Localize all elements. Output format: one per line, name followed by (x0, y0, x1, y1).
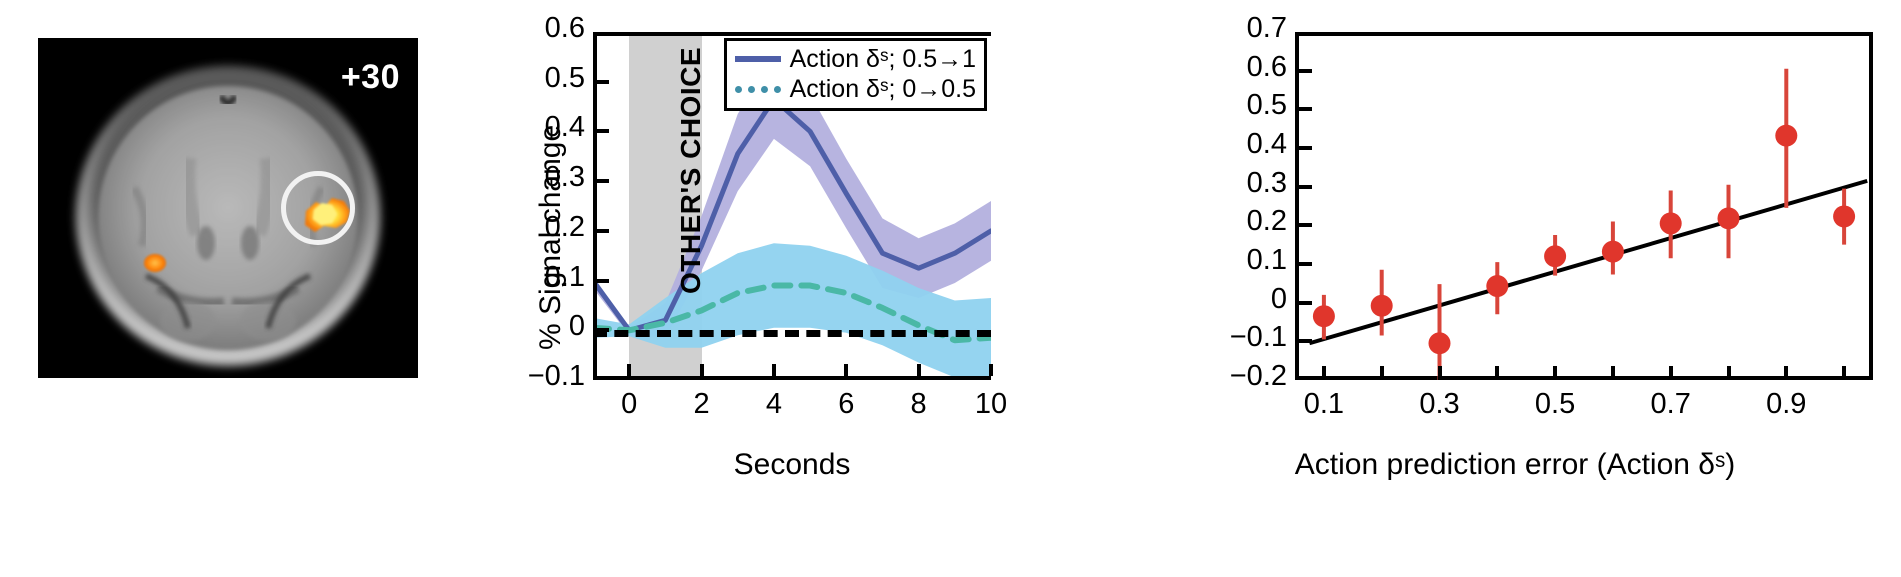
scatter-xtick-mark (1380, 366, 1384, 380)
scatter-ytick-label: 0.7 (1199, 12, 1287, 45)
scatter-data-point (1602, 241, 1624, 263)
scatter-fit-line (1309, 181, 1867, 343)
timecourse-ytick-label: 0.5 (501, 62, 585, 95)
scatter-x-axis-title: Action prediction error (Action δˢ) (1130, 448, 1900, 482)
others-choice-label: OTHER'S CHOICE (675, 47, 707, 294)
timecourse-xtick-mark (917, 364, 921, 376)
scatter-ytick-mark (1299, 107, 1312, 111)
slice-coordinate-label: +30 (341, 58, 400, 97)
scatter-data-point (1660, 212, 1682, 234)
scatter-xtick-mark (1553, 366, 1557, 380)
scatter-data-point (1775, 125, 1797, 147)
timecourse-xtick-mark (700, 364, 704, 376)
timecourse-ytick-mark (597, 229, 609, 233)
scatter-xtick-mark (1784, 366, 1788, 380)
scatter-ytick-mark (1299, 223, 1312, 227)
scatter-ytick-label: 0.3 (1199, 167, 1287, 200)
scatter-xtick-label: 0.7 (1626, 388, 1716, 421)
scatter-ytick-label: 0.1 (1199, 244, 1287, 277)
scatter-ytick-label: 0 (1199, 283, 1287, 316)
timecourse-xtick-label: 0 (589, 388, 669, 421)
legend-item-0: Action δˢ; 0.5→1 (735, 44, 976, 74)
scatter-data-point (1544, 245, 1566, 267)
scatter-data-point (1718, 207, 1740, 229)
zero-reference-line (593, 330, 991, 337)
timecourse-xtick-mark (772, 364, 776, 376)
scatter-data-point (1486, 275, 1508, 297)
scatter-plot-area (1295, 32, 1873, 380)
timecourse-xtick-mark (844, 364, 848, 376)
plot-top-border (593, 32, 991, 36)
scatter-ytick-mark (1299, 146, 1312, 150)
scatter-data-point (1429, 332, 1451, 354)
brain-slice-panel: +30 (38, 38, 418, 378)
legend-label-1: Action δˢ; 0→0.5 (790, 75, 976, 104)
scatter-ytick-label: −0.2 (1199, 360, 1287, 393)
roi-circle-icon (281, 171, 355, 245)
timecourse-ytick-mark (597, 80, 609, 84)
timecourse-xtick-mark (989, 364, 993, 376)
scatter-xtick-mark (1669, 366, 1673, 380)
scatter-xtick-label: 0.9 (1741, 388, 1831, 421)
scatter-ytick-mark (1299, 185, 1312, 189)
timecourse-xtick-label: 4 (734, 388, 814, 421)
scatter-data-point (1833, 205, 1855, 227)
timecourse-xtick-label: 2 (662, 388, 742, 421)
scatter-xtick-label: 0.3 (1395, 388, 1485, 421)
timecourse-chart-panel: OTHER'S CHOICE Action δˢ; 0.5→1 Action δ… (500, 20, 1040, 560)
legend-line-solid-icon (735, 56, 781, 62)
timecourse-x-axis-title: Seconds (593, 448, 991, 482)
scatter-xtick-mark (1842, 366, 1846, 380)
scatter-ytick-label: 0.2 (1199, 205, 1287, 238)
scatter-data-point (1313, 305, 1335, 327)
timecourse-xtick-label: 8 (879, 388, 959, 421)
scatter-xtick-mark (1727, 366, 1731, 380)
scatter-xtick-mark (1438, 366, 1442, 380)
timecourse-y-axis-title: % Signal change (534, 125, 568, 350)
scatter-xtick-mark (1611, 366, 1615, 380)
scatter-data-point (1371, 295, 1393, 317)
scatter-xtick-label: 0.5 (1510, 388, 1600, 421)
brain-image: +30 (38, 38, 418, 378)
timecourse-ytick-mark (597, 179, 609, 183)
scatter-chart-panel: −0.2−0.100.10.20.30.40.50.60.7 0.10.30.5… (1130, 20, 1900, 560)
scatter-ytick-label: 0.5 (1199, 89, 1287, 122)
timecourse-ytick-mark (597, 279, 609, 283)
legend-line-dotted-icon (735, 86, 781, 93)
timecourse-plot-area: OTHER'S CHOICE Action δˢ; 0.5→1 Action δ… (593, 32, 991, 380)
figure-root: +30 OTHER'S CHOICE Action δˢ; 0.5→1 (0, 0, 1901, 577)
timecourse-ytick-mark (597, 129, 609, 133)
plot-bottom-axis (593, 376, 991, 380)
legend-label-0: Action δˢ; 0.5→1 (790, 45, 976, 74)
timecourse-ytick-mark (597, 328, 609, 332)
scatter-ytick-mark (1299, 262, 1312, 266)
scatter-points-svg (1295, 32, 1873, 380)
timecourse-ytick-label: 0.6 (501, 12, 585, 45)
scatter-ytick-label: −0.1 (1199, 321, 1287, 354)
scatter-ytick-mark (1299, 69, 1312, 73)
scatter-ytick-mark (1299, 301, 1312, 305)
scatter-xtick-label: 0.1 (1279, 388, 1369, 421)
legend-item-1: Action δˢ; 0→0.5 (735, 74, 976, 104)
timecourse-xtick-mark (627, 364, 631, 376)
scatter-ytick-label: 0.6 (1199, 51, 1287, 84)
scatter-ytick-label: 0.4 (1199, 128, 1287, 161)
timecourse-ytick-label: −0.1 (501, 360, 585, 393)
activation-blob-left (144, 254, 166, 272)
timecourse-legend: Action δˢ; 0.5→1 Action δˢ; 0→0.5 (724, 38, 987, 111)
scatter-xtick-mark (1322, 366, 1326, 380)
scatter-ytick-mark (1299, 339, 1312, 343)
timecourse-xtick-label: 6 (806, 388, 886, 421)
scatter-xtick-mark (1495, 366, 1499, 380)
timecourse-xtick-label: 10 (951, 388, 1031, 421)
